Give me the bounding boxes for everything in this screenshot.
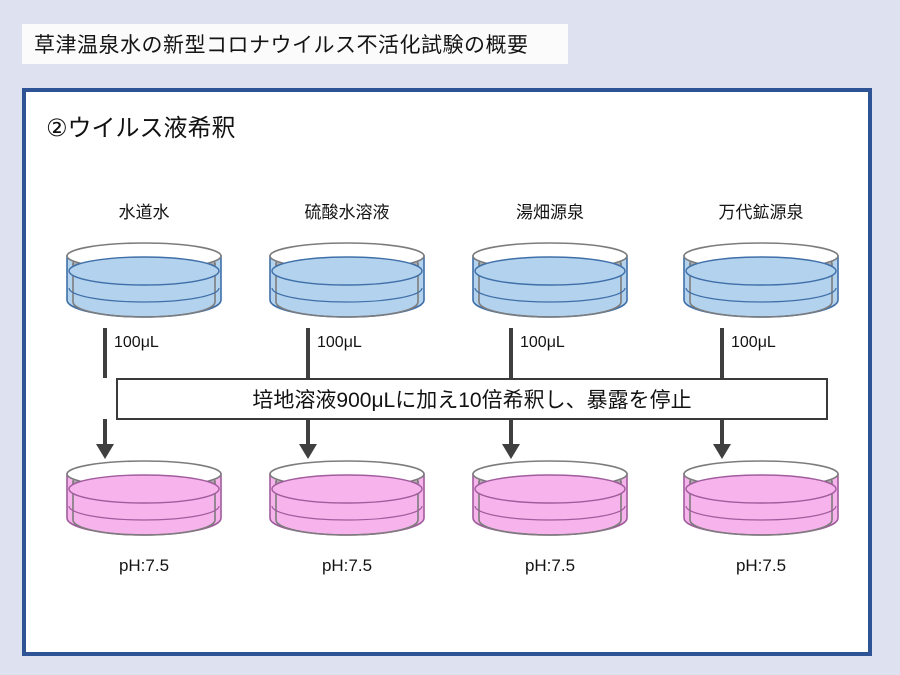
sample-label: 湯畑源泉 bbox=[460, 198, 640, 223]
sample-column-sulfuric-acid: 硫酸水溶液 100μL bbox=[257, 92, 437, 652]
petri-dish-top bbox=[64, 242, 224, 324]
transfer-arrow-line-lower bbox=[509, 419, 513, 447]
ph-label: pH:7.5 bbox=[54, 556, 234, 576]
petri-dish-top bbox=[681, 242, 841, 324]
page-title: 草津温泉水の新型コロナウイルス不活化試験の概要 bbox=[34, 29, 529, 59]
transfer-arrow-head bbox=[502, 444, 520, 459]
transfer-arrow-head bbox=[713, 444, 731, 459]
sample-column-tap-water: 水道水 100μL bbox=[54, 92, 234, 652]
sample-column-bandaiko-spring: 万代鉱源泉 100μL bbox=[671, 92, 851, 652]
sample-label: 硫酸水溶液 bbox=[257, 198, 437, 223]
transfer-arrow-line-upper bbox=[509, 328, 513, 378]
dilution-step-text: 培地溶液900μLに加え10倍希釈し、暴露を停止 bbox=[252, 384, 691, 414]
transfer-arrow-line-lower bbox=[306, 419, 310, 447]
transfer-arrow-head bbox=[96, 444, 114, 459]
transfer-arrow-line-lower bbox=[720, 419, 724, 447]
transfer-volume-label: 100μL bbox=[114, 334, 159, 352]
transfer-volume-label: 100μL bbox=[731, 334, 776, 352]
column-container: 水道水 100μL bbox=[26, 92, 868, 652]
sample-label: 水道水 bbox=[54, 198, 234, 223]
transfer-volume-label: 100μL bbox=[520, 334, 565, 352]
ph-label: pH:7.5 bbox=[671, 556, 851, 576]
diagram-panel: ②ウイルス液希釈 水道水 100μL bbox=[22, 88, 872, 656]
petri-dish-top bbox=[267, 242, 427, 324]
transfer-arrow-line-lower bbox=[103, 419, 107, 447]
ph-label: pH:7.5 bbox=[257, 556, 437, 576]
petri-dish-bottom bbox=[64, 460, 224, 542]
petri-dish-bottom bbox=[681, 460, 841, 542]
dilution-step-box: 培地溶液900μLに加え10倍希釈し、暴露を停止 bbox=[116, 378, 828, 420]
petri-dish-bottom bbox=[267, 460, 427, 542]
petri-dish-bottom bbox=[470, 460, 630, 542]
sample-column-yubatake-spring: 湯畑源泉 100μL bbox=[460, 92, 640, 652]
transfer-arrow-line-upper bbox=[720, 328, 724, 378]
slide-title-banner: 草津温泉水の新型コロナウイルス不活化試験の概要 bbox=[22, 24, 568, 64]
sample-label: 万代鉱源泉 bbox=[671, 198, 851, 223]
ph-label: pH:7.5 bbox=[460, 556, 640, 576]
transfer-arrow-head bbox=[299, 444, 317, 459]
transfer-arrow-line-upper bbox=[103, 328, 107, 378]
petri-dish-top bbox=[470, 242, 630, 324]
transfer-arrow-line-upper bbox=[306, 328, 310, 378]
transfer-volume-label: 100μL bbox=[317, 334, 362, 352]
